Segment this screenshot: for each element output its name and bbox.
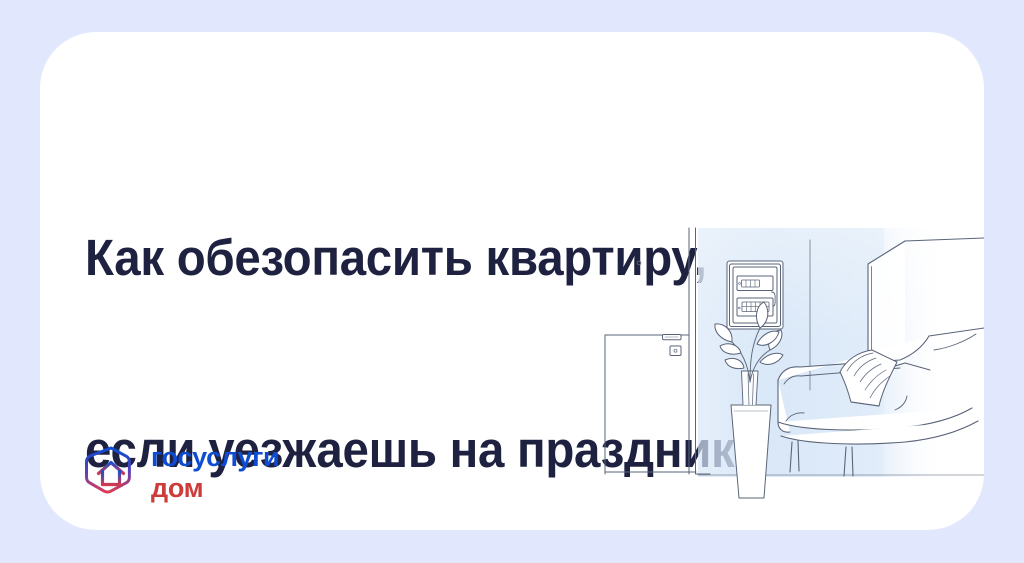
door-handle xyxy=(663,335,682,340)
door-lock xyxy=(670,346,681,356)
poster-canvas: Как обезопасить квартиру, если уезжаешь … xyxy=(0,0,1024,563)
entry-door xyxy=(605,228,710,474)
gosuslugi-dom-logo[interactable]: госуслуги дом xyxy=(83,444,279,502)
house-in-hexagon-logo-mark xyxy=(83,445,139,501)
wall-peephole xyxy=(637,261,641,265)
electric-meter xyxy=(737,276,773,291)
logo-wordmark: госуслуги дом xyxy=(151,444,279,502)
electrical-panel xyxy=(727,261,783,329)
logo-word-gosuslugi: госуслуги xyxy=(151,444,279,471)
content-card: Как обезопасить квартиру, если уезжаешь … xyxy=(40,32,984,530)
logo-word-dom: дом xyxy=(151,475,279,502)
illustration xyxy=(600,222,984,530)
